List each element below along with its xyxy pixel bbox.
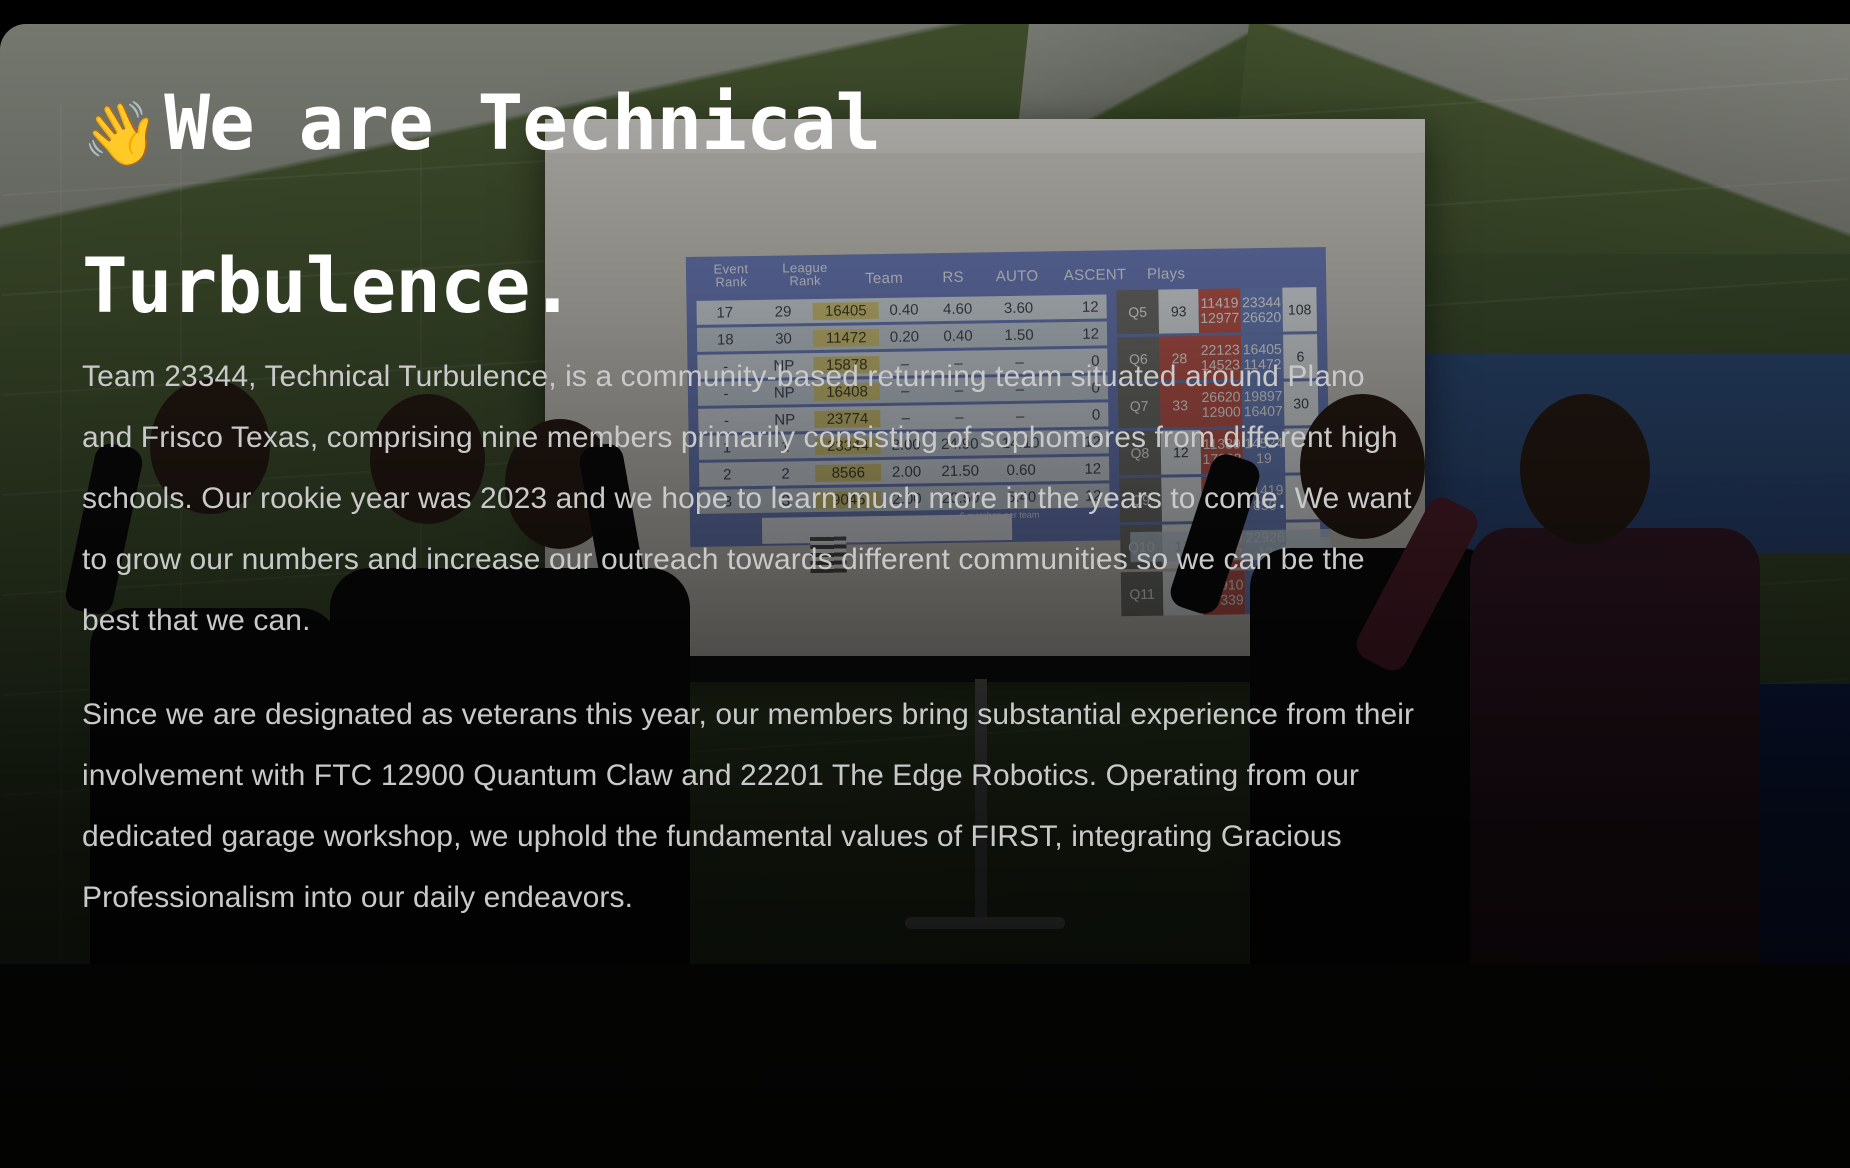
top-letterbox-band: [0, 0, 1850, 24]
waving-hand-icon: 👋: [82, 97, 158, 170]
hero-content: 👋We are Technical Turbulence. Team 23344…: [0, 0, 1850, 1168]
about-paragraph-2: Since we are designated as veterans this…: [82, 684, 1422, 928]
page-title: 👋We are Technical Turbulence.: [82, 47, 1382, 362]
about-paragraph-1: Team 23344, Technical Turbulence, is a c…: [82, 346, 1422, 651]
page-root: Event Rank League Rank Team RS AUTO ASCE…: [0, 0, 1850, 1168]
page-title-line2: Turbulence.: [82, 210, 1382, 362]
page-title-line1: We are Technical: [164, 78, 880, 167]
